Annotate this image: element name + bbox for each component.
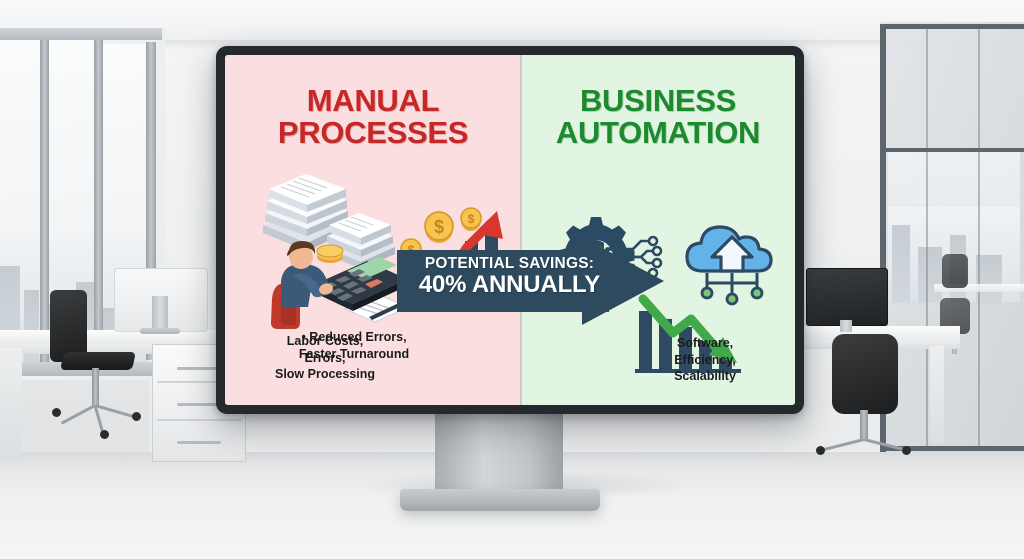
svg-text:$: $ [468,212,475,226]
office-scene: MANUAL PROCESSES BUSINESS AUTOMATION [0,0,1024,559]
headline-left-line2: PROCESSES [225,117,521,149]
business-automation-caption: Software, Efficiency, Scalability [625,335,785,385]
manual-processes-headline: MANUAL PROCESSES [225,85,521,148]
monitor-screen: MANUAL PROCESSES BUSINESS AUTOMATION [225,55,795,405]
glass-partition [880,22,1024,452]
svg-text:$: $ [434,217,444,237]
left-desk [0,330,230,344]
banner-line2: 40% ANNUALLY [397,272,622,297]
headline-right-line1: BUSINESS [521,85,795,117]
monitor-stand-base [400,489,600,511]
right-chair-back [832,334,898,414]
monitor-stand-neck [435,412,563,497]
left-caption-line3: Slow Processing [235,366,415,383]
headline-left-line1: MANUAL [225,85,521,117]
left-caption-line1: Labor Costs, [235,333,415,350]
banner-line1: POTENTIAL SAVINGS: [397,256,622,272]
banner-text: POTENTIAL SAVINGS: 40% ANNUALLY [397,256,622,298]
headline-right-line2: AUTOMATION [521,117,795,149]
right-caption-line1: Software, [625,335,785,352]
business-automation-headline: BUSINESS AUTOMATION [521,85,795,148]
potential-savings-banner: POTENTIAL SAVINGS: 40% ANNUALLY [397,250,662,312]
manual-processes-caption: Labor Costs, Errors, Slow Processing [235,333,415,383]
desktop-monitor[interactable]: MANUAL PROCESSES BUSINESS AUTOMATION [216,46,804,414]
left-caption-line2: Errors, [235,350,415,367]
right-caption-line2: Efficiency, [625,352,785,369]
right-caption-line3: Scalability [625,368,785,385]
background-monitor-right [806,268,888,326]
